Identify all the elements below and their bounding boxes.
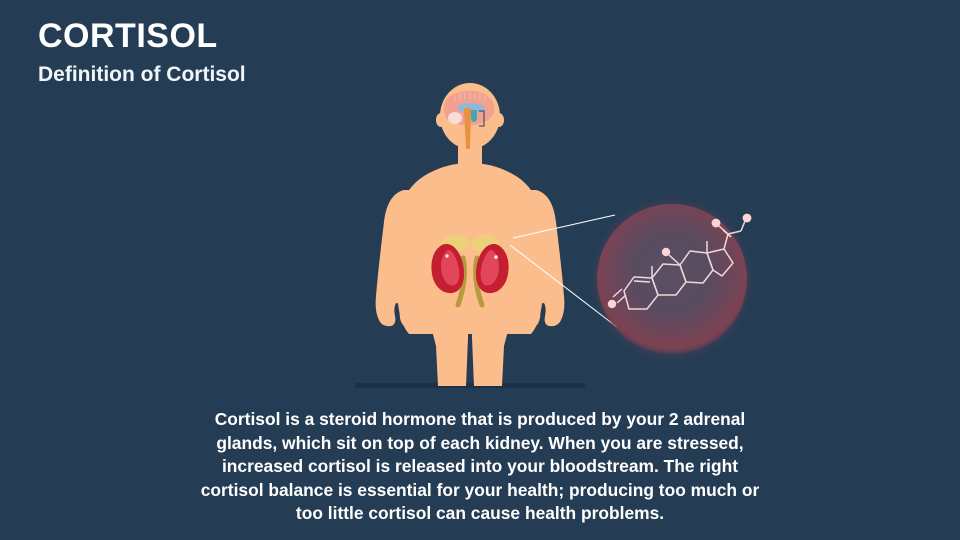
cerebellum (448, 112, 462, 124)
magnifier-lens (590, 197, 754, 361)
hydroxyl-oxygen-c21 (743, 214, 752, 223)
ground-shadow (355, 383, 585, 388)
left-kidney-gloss (445, 254, 448, 257)
lens-disc (597, 204, 747, 354)
illustration-area (0, 0, 960, 400)
anatomy-illustration (0, 0, 960, 400)
definition-caption: Cortisol is a steroid hormone that is pr… (200, 408, 760, 526)
pituitary-gland (471, 116, 477, 122)
slide-root: CORTISOL Definition of Cortisol (0, 0, 960, 540)
ketone-oxygen-c20 (712, 219, 721, 228)
torso (397, 163, 544, 334)
hydroxyl-oxygen-c11 (662, 248, 670, 256)
right-kidney-gloss (494, 255, 498, 259)
ketone-oxygen-c3 (608, 300, 616, 308)
